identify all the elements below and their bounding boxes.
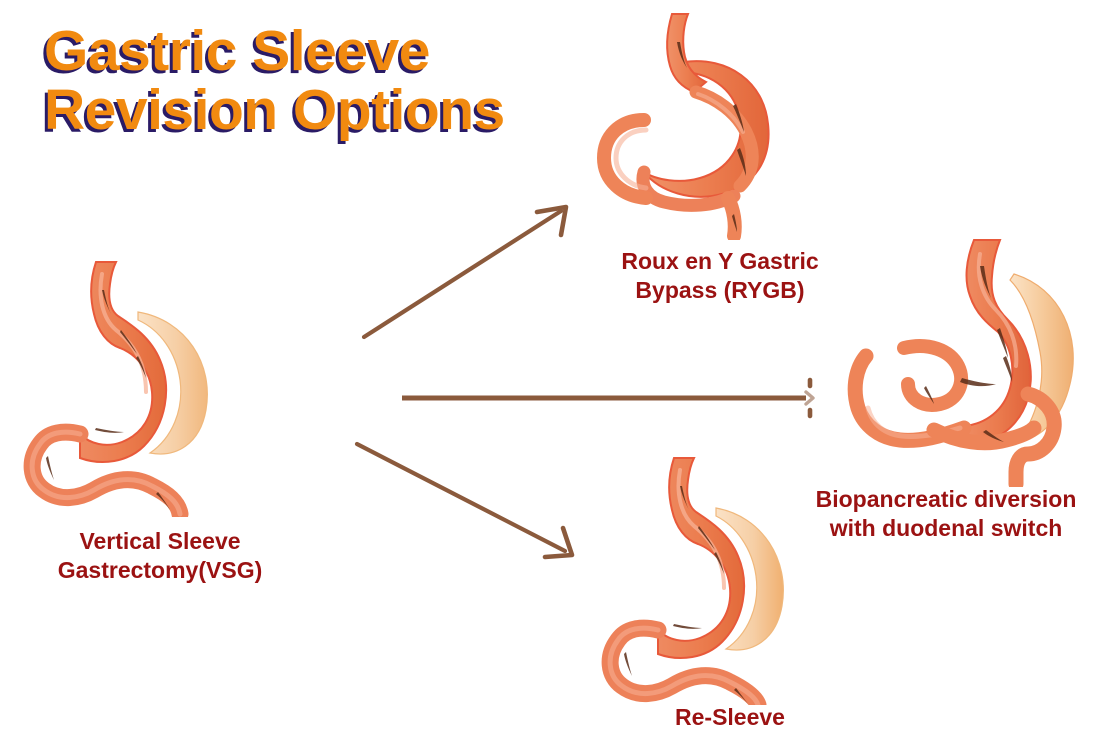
page-title-line-1: Gastric Sleeve	[44, 22, 505, 81]
sleeve-stomach	[964, 240, 1031, 446]
label-biopancreatic-diversion: Biopancreatic diversion with duodenal sw…	[786, 485, 1106, 544]
arrow-vsg-to-bpd	[402, 380, 813, 416]
arrow-vsg-to-resleeve	[357, 444, 572, 557]
illustration-roux-en-y-gastric-bypass	[588, 8, 818, 240]
page-title-line-2: Revision Options	[44, 81, 505, 140]
gastric-pouch	[667, 14, 706, 92]
diagram-canvas: Gastric SleeveRevision Options	[0, 0, 1112, 750]
label-vertical-sleeve-gastrectomy: Vertical Sleeve Gastrectomy(VSG)	[0, 527, 320, 586]
biliopancreatic-loop	[904, 346, 961, 405]
label-re-sleeve: Re-Sleeve	[600, 703, 860, 732]
label-roux-en-y-gastric-bypass: Roux en Y Gastric Bypass (RYGB)	[560, 247, 880, 306]
arrow-vsg-to-rygb	[364, 207, 566, 337]
illustration-vertical-sleeve-gastrectomy	[18, 252, 253, 517]
page-title: Gastric SleeveRevision Options	[44, 22, 505, 139]
